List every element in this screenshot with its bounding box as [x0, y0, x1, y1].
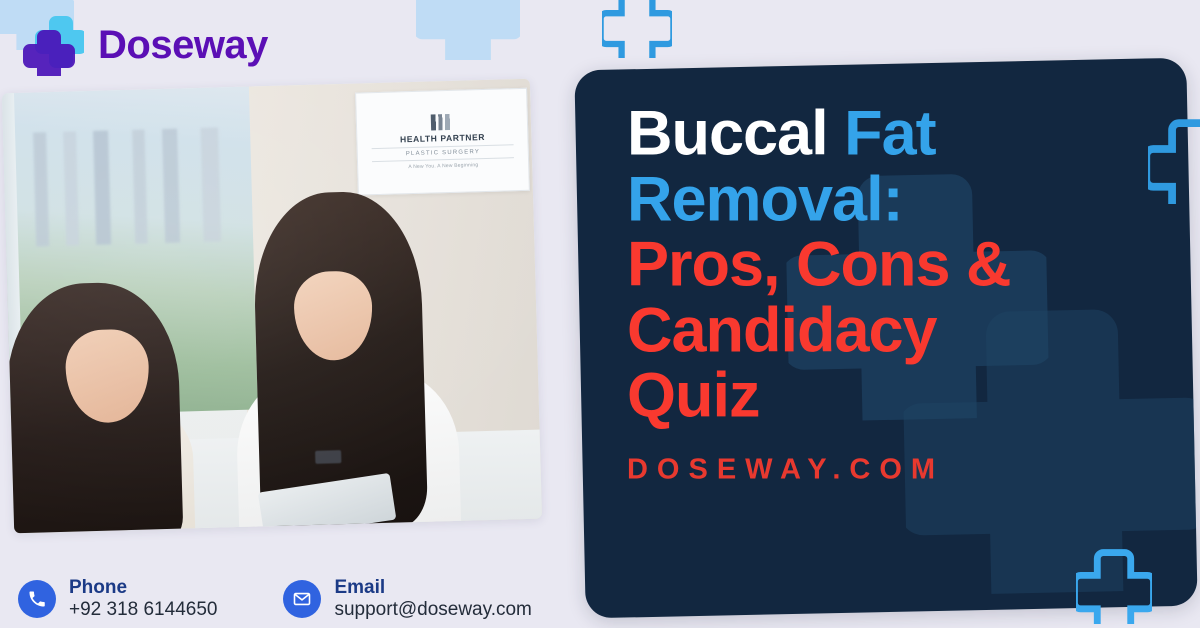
headline-line-4: Candidacy — [627, 298, 1167, 364]
cross-outline-bottom-right-icon — [1076, 548, 1152, 624]
contact-email-value: support@doseway.com — [334, 599, 531, 620]
cross-solid-top-mid-icon — [416, 0, 520, 60]
headline-word-buccal: Buccal — [627, 98, 828, 168]
cross-outline-right-icon — [1148, 118, 1200, 204]
headline-card: Buccal Fat Removal: Pros, Cons & Candida… — [574, 58, 1197, 619]
photo-scene: HEALTH PARTNER PLASTIC SURGERY A New You… — [2, 79, 542, 534]
headline-word-fat: Fat — [844, 98, 936, 168]
contact-email-text: Email support@doseway.com — [334, 577, 531, 620]
envelope-icon — [283, 580, 321, 618]
phone-icon — [18, 580, 56, 618]
headline-content: Buccal Fat Removal: Pros, Cons & Candida… — [627, 101, 1167, 486]
contact-phone-text: Phone +92 318 6144650 — [69, 577, 217, 620]
contact-bar: Phone +92 318 6144650 Email support@dose… — [18, 577, 532, 620]
headline-line-3: Pros, Cons & — [627, 232, 1167, 298]
brand-name: Doseway — [98, 25, 268, 65]
contact-email-label: Email — [334, 577, 531, 598]
headline-line-5: Quiz — [627, 363, 1167, 429]
double-cross-logo-icon — [22, 14, 84, 76]
cross-outline-top-icon — [602, 0, 672, 58]
headline-line-2: Removal: — [627, 167, 1167, 233]
contact-phone[interactable]: Phone +92 318 6144650 — [18, 577, 217, 620]
clinic-photo: HEALTH PARTNER PLASTIC SURGERY A New You… — [2, 79, 542, 534]
contact-phone-value: +92 318 6144650 — [69, 599, 217, 620]
site-url[interactable]: DOSEWAY.COM — [627, 453, 1167, 486]
contact-phone-label: Phone — [69, 577, 217, 598]
banner-canvas: Doseway HEALTH PARTNER PLASTIC SURGERY A… — [0, 0, 1200, 628]
brand-logo[interactable]: Doseway — [22, 14, 268, 76]
photo-highlight — [2, 79, 542, 534]
headline-line-1: Buccal Fat — [627, 101, 1167, 167]
contact-email[interactable]: Email support@doseway.com — [283, 577, 531, 620]
